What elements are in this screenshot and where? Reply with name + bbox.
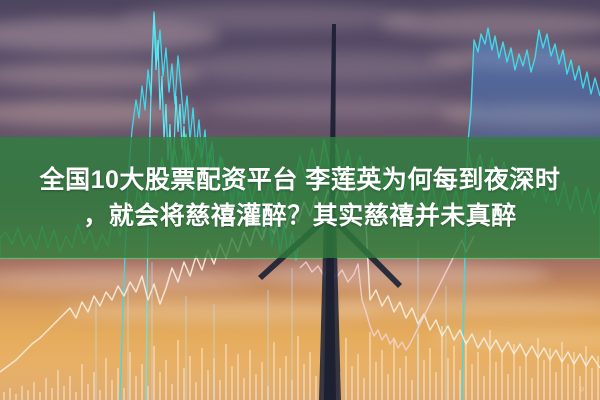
headline-text-block: 全国10大股票配资平台 李莲英为何每到夜深时 ，就会将慈禧灌醉？其实慈禧并未真醉: [0, 137, 600, 258]
banner-image: 全国10大股票配资平台 李莲英为何每到夜深时 ，就会将慈禧灌醉？其实慈禧并未真醉…: [0, 0, 600, 400]
headline-line-1: 全国10大股票配资平台 李莲英为何每到夜深时: [40, 165, 561, 195]
corner-watermark: φ: [579, 384, 584, 393]
headline-line-2: ，就会将慈禧灌醉？其实慈禧并未真醉: [83, 201, 517, 231]
